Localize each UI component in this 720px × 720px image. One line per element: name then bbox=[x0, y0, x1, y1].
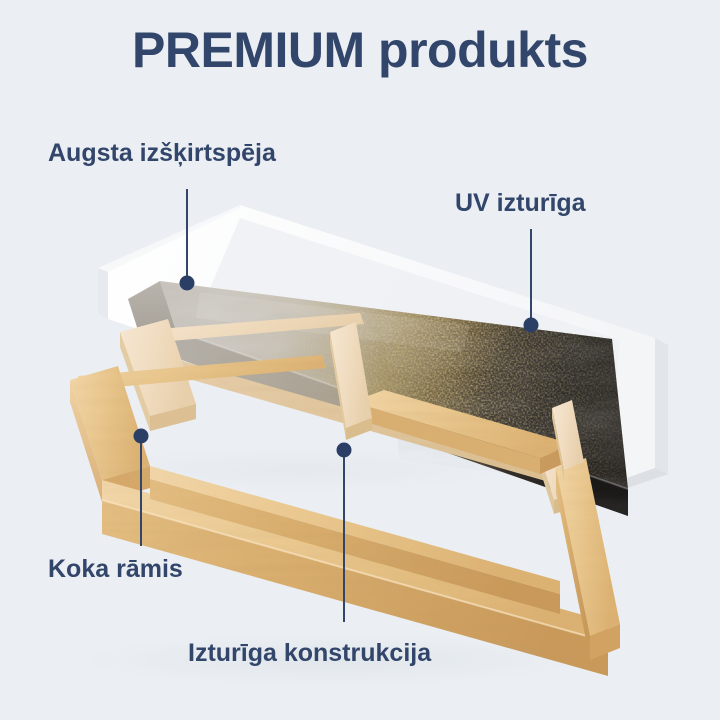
infographic-canvas: PREMIUM produkts Augsta izšķirtspēja UV … bbox=[0, 0, 720, 720]
callout-label-resolution: Augsta izšķirtspēja bbox=[48, 140, 276, 168]
product-exploded-illustration bbox=[0, 0, 720, 720]
callout-label-uv: UV izturīga bbox=[455, 190, 586, 218]
callout-label-construction: Izturīga konstrukcija bbox=[188, 640, 431, 668]
callout-dot-construction bbox=[337, 443, 352, 458]
callout-dot-uv bbox=[524, 318, 539, 333]
callout-label-frame: Koka rāmis bbox=[48, 556, 183, 584]
callout-dot-frame bbox=[134, 429, 149, 444]
page-title: PREMIUM produkts bbox=[0, 24, 720, 77]
callout-dot-resolution bbox=[180, 276, 195, 291]
